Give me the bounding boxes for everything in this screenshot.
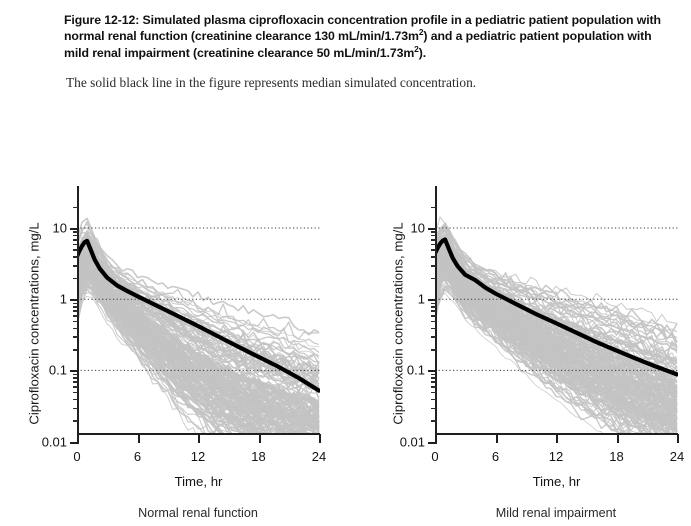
x-tick-label: 0 <box>73 449 80 464</box>
y-tick-minor <box>73 310 78 312</box>
y-tick-label: 1 <box>60 292 67 307</box>
y-tick-minor <box>431 408 436 410</box>
y-tick-minor <box>73 377 78 379</box>
y-tick-minor <box>431 321 436 323</box>
y-tick-minor <box>431 386 436 388</box>
y-tick-label: 0.1 <box>407 363 425 378</box>
y-tick-minor <box>431 420 436 422</box>
x-tick-major <box>259 434 261 443</box>
y-axis-title-left: Ciprofloxacin concentrations, mg/L <box>27 204 42 444</box>
y-tick-minor <box>431 310 436 312</box>
x-tick-major <box>138 434 140 443</box>
x-tick-major <box>677 434 679 443</box>
x-tick-label: 6 <box>134 449 141 464</box>
plot-area-right: 1010.10.0106121824 <box>435 200 678 435</box>
y-tick-minor <box>431 377 436 379</box>
y-tick-minor <box>431 249 436 251</box>
x-tick-label: 12 <box>191 449 205 464</box>
x-tick-label: 18 <box>251 449 265 464</box>
figure-caption-text: Figure 12-12: Simulated plasma ciproflox… <box>64 12 664 61</box>
y-tick-minor <box>431 306 436 308</box>
y-tick-minor <box>431 265 436 267</box>
y-tick-minor <box>73 349 78 351</box>
y-tick-minor <box>73 315 78 317</box>
y-tick-minor <box>431 381 436 383</box>
x-tick-label: 6 <box>492 449 499 464</box>
y-tick-minor <box>73 386 78 388</box>
y-tick-minor <box>73 374 78 376</box>
y-tick-minor <box>431 399 436 401</box>
plot-frame-right <box>435 200 678 435</box>
y-tick-major <box>428 370 437 372</box>
x-tick-major <box>556 434 558 443</box>
x-tick-major <box>617 434 619 443</box>
y-tick-major <box>428 228 437 230</box>
x-tick-major <box>77 434 79 443</box>
y-tick-minor <box>431 374 436 376</box>
x-tick-major <box>435 434 437 443</box>
y-tick-minor <box>73 420 78 422</box>
y-tick-minor <box>73 207 78 209</box>
y-tick-minor <box>431 231 436 233</box>
y-tick-minor <box>431 239 436 241</box>
y-tick-label: 0.1 <box>49 363 67 378</box>
y-tick-minor <box>431 392 436 394</box>
y-tick-label: 1 <box>418 292 425 307</box>
plot-area-left: 1010.10.0106121824 <box>77 200 320 435</box>
y-tick-minor <box>431 303 436 305</box>
y-tick-minor <box>73 303 78 305</box>
y-tick-major <box>70 299 79 301</box>
figure-panels-row: Ciprofloxacin concentrations, mg/L 1010.… <box>0 188 691 526</box>
y-tick-label: 10 <box>411 221 425 236</box>
y-tick-label: 0.01 <box>400 434 425 449</box>
y-tick-minor <box>73 256 78 258</box>
y-tick-minor <box>431 207 436 209</box>
y-tick-minor <box>73 239 78 241</box>
y-tick-minor <box>431 256 436 258</box>
panel-subtitle-right: Mild renal impairment <box>406 506 691 520</box>
y-tick-minor <box>73 328 78 330</box>
plot-frame-left <box>77 200 320 435</box>
y-tick-minor <box>431 349 436 351</box>
panel-subtitle-left: Normal renal function <box>48 506 348 520</box>
x-tick-label: 24 <box>670 449 684 464</box>
x-tick-label: 0 <box>431 449 438 464</box>
y-tick-minor <box>431 244 436 246</box>
x-axis-title-left: Time, hr <box>77 474 320 489</box>
y-tick-minor <box>73 381 78 383</box>
x-tick-major <box>198 434 200 443</box>
x-tick-major <box>496 434 498 443</box>
y-axis-title-right: Ciprofloxacin concentrations, mg/L <box>391 204 406 444</box>
y-tick-label: 0.01 <box>42 434 67 449</box>
y-tick-minor <box>73 265 78 267</box>
y-tick-minor <box>73 249 78 251</box>
y-tick-minor <box>431 278 436 280</box>
y-tick-minor <box>73 408 78 410</box>
x-axis-title-right: Time, hr <box>435 474 678 489</box>
caption-line-3: ). <box>419 46 426 60</box>
x-tick-major <box>319 434 321 443</box>
y-tick-minor <box>73 321 78 323</box>
y-tick-major <box>70 370 79 372</box>
x-tick-label: 24 <box>312 449 326 464</box>
y-tick-minor <box>431 315 436 317</box>
x-tick-label: 18 <box>609 449 623 464</box>
y-tick-minor <box>431 336 436 338</box>
figure-caption-block: Figure 12-12: Simulated plasma ciproflox… <box>64 12 664 91</box>
x-tick-label: 12 <box>549 449 563 464</box>
y-tick-minor <box>431 235 436 237</box>
y-tick-minor <box>73 399 78 401</box>
chart-panel-mild-renal-impairment: Ciprofloxacin concentrations, mg/L 1010.… <box>358 188 691 526</box>
y-tick-minor <box>73 231 78 233</box>
y-tick-label: 10 <box>53 221 67 236</box>
y-tick-major <box>70 228 79 230</box>
chart-panel-normal-renal-function: Ciprofloxacin concentrations, mg/L 1010.… <box>0 188 345 526</box>
y-tick-minor <box>73 235 78 237</box>
y-tick-minor <box>73 392 78 394</box>
y-tick-major <box>428 299 437 301</box>
y-tick-minor <box>431 328 436 330</box>
y-tick-minor <box>73 244 78 246</box>
figure-note-text: The solid black line in the figure repre… <box>66 75 664 91</box>
y-tick-minor <box>73 278 78 280</box>
y-tick-minor <box>73 306 78 308</box>
y-tick-minor <box>73 336 78 338</box>
